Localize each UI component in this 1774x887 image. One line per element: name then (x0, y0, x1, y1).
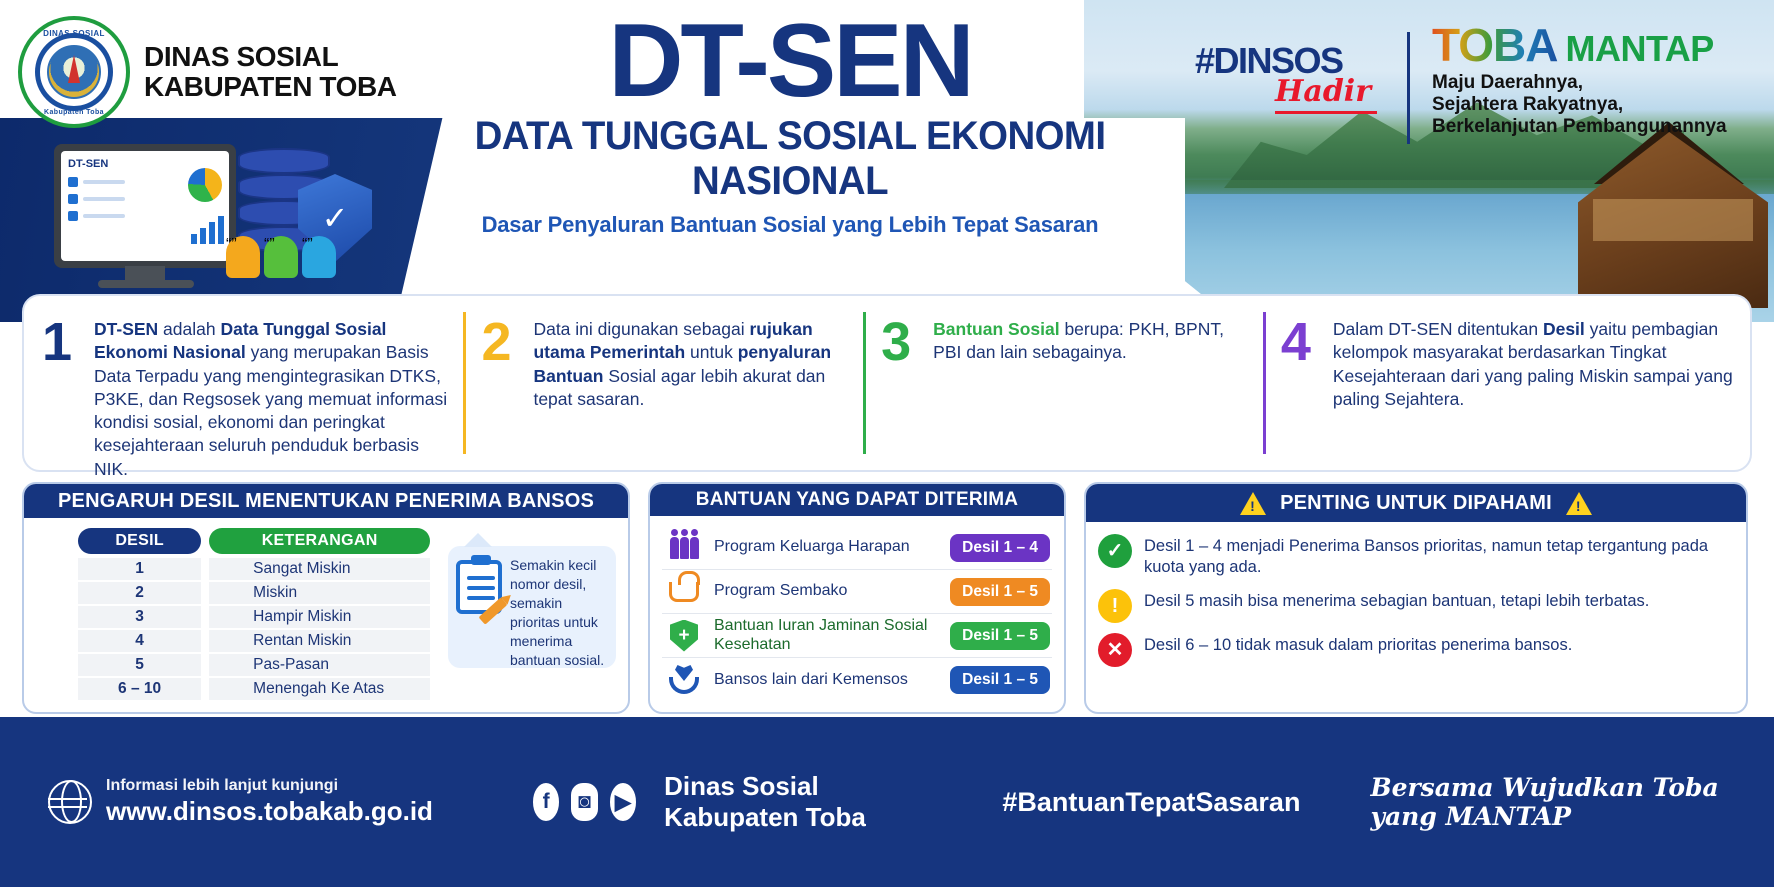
family-icon (664, 537, 704, 559)
bantuan-label: Bantuan Iuran Jaminan Sosial Kesehatan (714, 617, 940, 655)
point-plain: Data ini digunakan sebagai (533, 319, 749, 339)
penting-list: ✓ Desil 1 – 4 menjadi Penerima Bansos pr… (1098, 532, 1734, 702)
footer: Informasi lebih lanjut kunjungi www.dins… (0, 717, 1774, 887)
point-text: DT-SEN adalah Data Tunggal Sosial Ekonom… (94, 318, 447, 456)
point-number: 1 (42, 318, 82, 456)
point-bold: Desil (1543, 319, 1590, 339)
cell-desil: 3 (78, 606, 201, 630)
desil-badge: Desil 1 – 5 (950, 622, 1050, 650)
cell-desil: 2 (78, 582, 201, 606)
cross-circle-icon: ✕ (1098, 633, 1132, 667)
point-item-3: 3 Bantuan Sosial berupa: PKH, BPNT, PBI … (863, 296, 1263, 470)
point-text: Bantuan Sosial berupa: PKH, BPNT, PBI da… (933, 318, 1247, 456)
panel-b-title: BANTUAN YANG DAPAT DITERIMA (650, 484, 1064, 516)
panel-penting-dipahami: PENTING UNTUK DIPAHAMI ✓ Desil 1 – 4 men… (1084, 482, 1748, 714)
cell-desil: 5 (78, 654, 201, 678)
check-box-icon (68, 194, 78, 204)
warning-triangle-icon (1240, 492, 1266, 515)
desil-badge: Desil 1 – 5 (950, 578, 1050, 606)
toba-tagline-2: Sejahtera Rakyatnya, (1432, 94, 1762, 116)
seal-bottom-text: Kabupaten Toba (22, 109, 126, 116)
footer-website-url[interactable]: www.dinsos.tobakab.go.id (106, 796, 433, 827)
point-bold-green: Bantuan Sosial (933, 319, 1064, 339)
toba-tagline-3: Berkelanjutan Pembangunannya (1432, 116, 1762, 138)
point-plain: yang merupakan Basis Data Terpadu yang m… (94, 342, 447, 478)
penting-text: Desil 5 masih bisa menerima sebagian ban… (1144, 589, 1649, 612)
panel-a-body: DESIL KETERANGAN 1 Sangat Miskin 2 Miski… (24, 518, 628, 712)
footer-slogan: Bersama Wujudkan Toba yang MANTAP (1370, 773, 1774, 831)
cell-keterangan: Sangat Miskin (209, 558, 430, 582)
title-block: DT-SEN DATA TUNGGAL SOSIAL EKONOMI NASIO… (430, 12, 1150, 238)
panel-c-body: ✓ Desil 1 – 4 menjadi Penerima Bansos pr… (1086, 522, 1746, 712)
penting-text: Desil 6 – 10 tidak masuk dalam prioritas… (1144, 633, 1572, 656)
exclamation-circle-icon: ! (1098, 589, 1132, 623)
table-row: 2 Miskin (78, 582, 430, 606)
monitor-base (98, 280, 194, 288)
column-header-desil: DESIL (78, 528, 201, 554)
footer-org-name: Dinas Sosial Kabupaten Toba (664, 771, 916, 833)
toba-wordmark: TOBA (1432, 22, 1558, 68)
panels-row: PENGARUH DESIL MENENTUKAN PENERIMA BANSO… (22, 482, 1752, 714)
check-box-icon (68, 211, 78, 221)
dinsos-hadir-logo: #DINSOS Hadir (1195, 22, 1385, 114)
toba-tagline: Maju Daerahnya, Sejahtera Rakyatnya, Ber… (1432, 72, 1762, 138)
instagram-icon[interactable]: ◙ (571, 783, 597, 821)
toba-tagline-1: Maju Daerahnya, (1432, 72, 1762, 94)
right-branding: #DINSOS Hadir TOBA MANTAP Maju Daerahnya… (1195, 22, 1762, 144)
footer-social-links: f ◙ ▶ Dinas Sosial Kabupaten Toba (533, 771, 916, 833)
point-item-4: 4 Dalam DT-SEN ditentukan Desil yaitu pe… (1263, 296, 1750, 470)
bantuan-label: Bansos lain dari Kemensos (714, 671, 940, 690)
page-subtitle: DATA TUNGGAL SOSIAL EKONOMI NASIONAL (444, 114, 1135, 204)
penting-text: Desil 1 – 4 menjadi Penerima Bansos prio… (1144, 534, 1734, 579)
panel-a-title: PENGARUH DESIL MENENTUKAN PENERIMA BANSO… (24, 484, 628, 518)
list-item: + Bantuan Iuran Jaminan Sosial Kesehatan… (662, 614, 1052, 658)
check-circle-icon: ✓ (1098, 534, 1132, 568)
bantuan-label: Program Keluarga Harapan (714, 538, 940, 557)
column-header-keterangan: KETERANGAN (209, 528, 430, 554)
list-item: Program Sembako Desil 1 – 5 (662, 570, 1052, 614)
clipboard-pencil-icon (456, 560, 502, 614)
organization-name: DINAS SOSIAL KABUPATEN TOBA (144, 42, 397, 102)
table-row: 6 – 10 Menengah Ke Atas (78, 678, 430, 702)
org-line-2: KABUPATEN TOBA (144, 72, 397, 102)
bar-chart-icon (191, 214, 224, 244)
point-plain: adalah (163, 319, 220, 339)
point-item-1: 1 DT-SEN adalah Data Tunggal Sosial Ekon… (24, 296, 463, 470)
cell-keterangan: Menengah Ke Atas (209, 678, 430, 702)
pie-chart-icon (188, 168, 222, 202)
cell-keterangan: Pas-Pasan (209, 654, 430, 678)
list-item: Bansos lain dari Kemensos Desil 1 – 5 (662, 658, 1052, 702)
point-number: 3 (881, 318, 921, 456)
cell-desil: 6 – 10 (78, 678, 201, 702)
warning-triangle-icon (1566, 492, 1592, 515)
footer-hashtag: #BantuanTepatSasaran (1002, 787, 1300, 818)
list-item: ✓ Desil 1 – 4 menjadi Penerima Bansos pr… (1098, 534, 1734, 579)
cell-desil: 4 (78, 630, 201, 654)
panel-pengaruh-desil: PENGARUH DESIL MENENTUKAN PENERIMA BANSO… (22, 482, 630, 714)
brand-divider (1407, 32, 1410, 144)
panel-c-title: PENTING UNTUK DIPAHAMI (1280, 492, 1552, 515)
point-text: Dalam DT-SEN ditentukan Desil yaitu pemb… (1333, 318, 1734, 456)
cell-desil: 1 (78, 558, 201, 582)
seal-inner-ring (35, 33, 113, 111)
panel-b-body: Program Keluarga Harapan Desil 1 – 4 Pro… (650, 516, 1064, 712)
cell-keterangan: Rentan Miskin (209, 630, 430, 654)
page-title: DT-SEN (430, 12, 1150, 112)
mantap-wordmark: MANTAP (1566, 28, 1714, 70)
bantuan-list: Program Keluarga Harapan Desil 1 – 4 Pro… (662, 526, 1052, 702)
table-row: 1 Sangat Miskin (78, 558, 430, 582)
desil-tip-callout: Semakin kecil nomor desil, semakin prior… (448, 546, 616, 668)
basket-icon (664, 582, 704, 602)
table-row: 5 Pas-Pasan (78, 654, 430, 678)
globe-icon (48, 780, 92, 824)
monitor-screen: DT-SEN (61, 151, 229, 261)
tip-text: Semakin kecil nomor desil, semakin prior… (510, 556, 606, 670)
table-row: 4 Rentan Miskin (78, 630, 430, 654)
youtube-icon[interactable]: ▶ (610, 783, 636, 821)
dinas-sosial-seal-icon: DINAS SOSIAL Kabupaten Toba (18, 16, 130, 128)
footer-info-label: Informasi lebih lanjut kunjungi (106, 777, 433, 795)
seal-top-text: DINAS SOSIAL (22, 29, 126, 38)
line-placeholder (83, 214, 125, 218)
point-text: Data ini digunakan sebagai rujukan utama… (533, 318, 847, 456)
point-number: 2 (481, 318, 521, 456)
list-item: Program Keluarga Harapan Desil 1 – 4 (662, 526, 1052, 570)
line-placeholder (83, 180, 125, 184)
point-plain: untuk (690, 342, 738, 362)
check-box-icon (68, 177, 78, 187)
facebook-icon[interactable]: f (533, 783, 559, 821)
table-header-row: DESIL KETERANGAN (78, 528, 430, 554)
point-number: 4 (1281, 318, 1321, 456)
list-item: ! Desil 5 masih bisa menerima sebagian b… (1098, 589, 1734, 623)
panel-c-header: PENTING UNTUK DIPAHAMI (1086, 484, 1746, 522)
key-points-card: 1 DT-SEN adalah Data Tunggal Sosial Ekon… (22, 294, 1752, 472)
bantuan-label: Program Sembako (714, 582, 940, 601)
point-item-2: 2 Data ini digunakan sebagai rujukan uta… (463, 296, 863, 470)
infographic-poster: DINAS SOSIAL Kabupaten Toba DINAS SOSIAL… (0, 0, 1774, 887)
page-tagline: Dasar Penyaluran Bantuan Sosial yang Leb… (430, 212, 1150, 238)
brand-lockup: DINAS SOSIAL Kabupaten Toba DINAS SOSIAL… (18, 16, 397, 128)
people-icon (226, 236, 336, 278)
dashboard-illustration: DT-SEN ✓ (30, 138, 390, 313)
pencil-icon (479, 597, 508, 625)
heart-hands-icon (664, 664, 704, 696)
toba-mantap-logo: TOBA MANTAP Maju Daerahnya, Sejahtera Ra… (1432, 22, 1762, 138)
footer-website-block[interactable]: Informasi lebih lanjut kunjungi www.dins… (48, 777, 433, 827)
seal-emblem (47, 45, 101, 99)
desil-table: DESIL KETERANGAN 1 Sangat Miskin 2 Miski… (78, 528, 430, 702)
cell-keterangan: Hampir Miskin (209, 606, 430, 630)
org-line-1: DINAS SOSIAL (144, 42, 397, 72)
desil-badge: Desil 1 – 5 (950, 666, 1050, 694)
point-bold: DT-SEN (94, 319, 163, 339)
header: DINAS SOSIAL Kabupaten Toba DINAS SOSIAL… (0, 0, 1774, 322)
panel-bantuan-diterima: BANTUAN YANG DAPAT DITERIMA Program Kelu… (648, 482, 1066, 714)
monitor-icon: DT-SEN (54, 144, 236, 268)
cell-keterangan: Miskin (209, 582, 430, 606)
line-placeholder (83, 197, 125, 201)
desil-badge: Desil 1 – 4 (950, 534, 1050, 562)
shield-plus-icon: + (664, 620, 704, 652)
list-item: ✕ Desil 6 – 10 tidak masuk dalam priorit… (1098, 633, 1734, 667)
point-plain: Dalam DT-SEN ditentukan (1333, 319, 1543, 339)
table-row: 3 Hampir Miskin (78, 606, 430, 630)
